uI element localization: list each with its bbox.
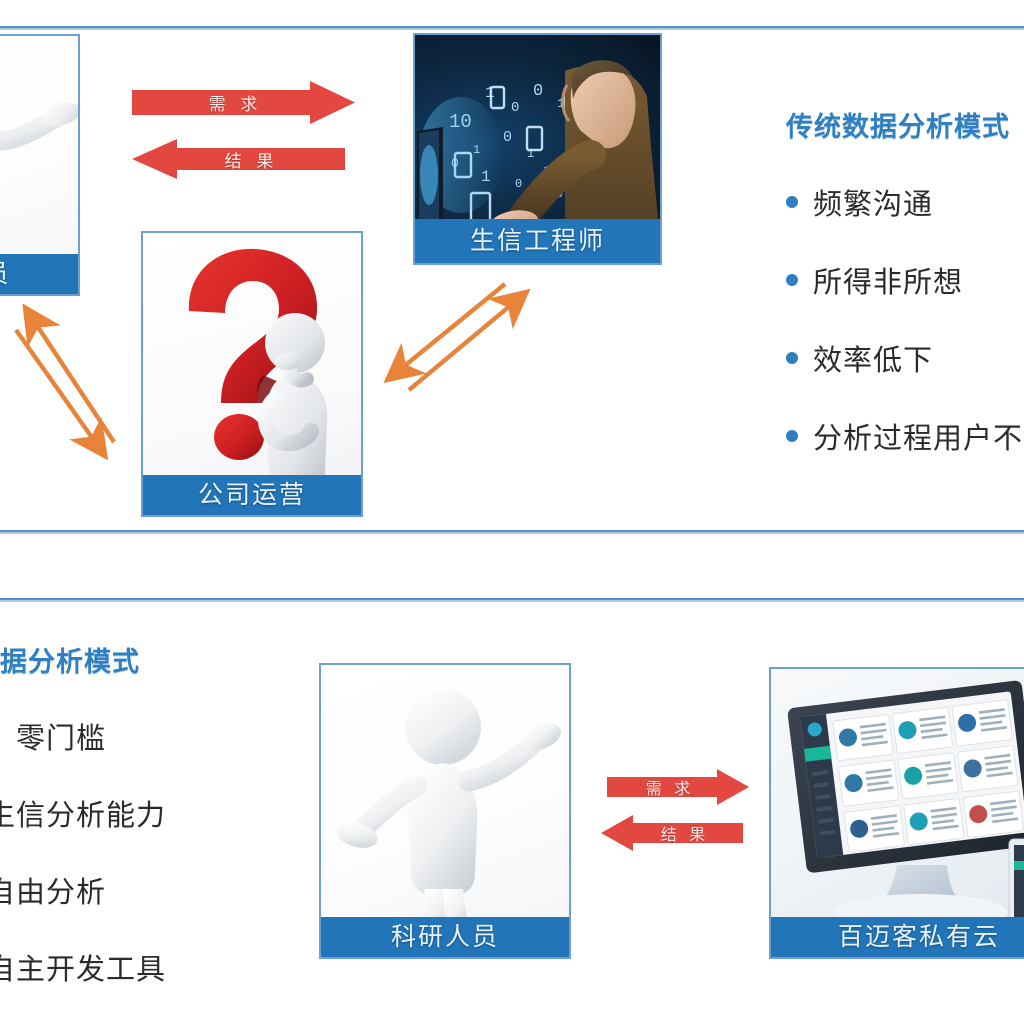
card-caption-top-left: 员 (0, 254, 78, 294)
bullet-text: 效率低下 (813, 337, 933, 379)
bullet-dot-icon (786, 274, 798, 286)
panel-traditional-mode: 传统数据分析模式 频繁沟通 所得非所想 效率低下 分析过程用户不可 (786, 105, 1024, 457)
bullet-text: 以部署自主开发工具 (0, 946, 166, 988)
bullet-dot-icon (786, 196, 798, 208)
arrow-result-top: 结 果 (132, 139, 345, 179)
card-caption-private-cloud: 百迈客私有云 (771, 917, 1024, 957)
divider-middle-lower (0, 598, 1024, 602)
question-mark-thinking-figure (143, 233, 361, 515)
bullet-list-new: 化操作、零门槛 中获得生信分析能力 所欲、自由分析 以部署自主开发工具 (0, 715, 316, 988)
svg-text:0: 0 (533, 82, 543, 101)
arrow-result-bottom: 结 果 (601, 815, 743, 851)
bullet-item: 所欲、自由分析 (0, 869, 316, 911)
arrow-orange-left-pair (0, 296, 126, 452)
svg-text:0: 0 (503, 129, 512, 146)
bullet-text: 化操作、零门槛 (0, 715, 106, 757)
card-caption-engineer: 生信工程师 (415, 219, 660, 263)
bullet-item: 中获得生信分析能力 (0, 792, 316, 834)
card-caption-company-operations: 公司运营 (143, 475, 361, 515)
panel-title-traditional: 传统数据分析模式 (786, 105, 1024, 144)
card-company-operations: 公司运营 (141, 231, 363, 517)
card-top-left-researcher: 员 (0, 34, 80, 296)
bullet-dot-icon (786, 352, 798, 364)
bullet-text: 分析过程用户不可 (813, 415, 1024, 457)
bullet-list-traditional: 频繁沟通 所得非所想 效率低下 分析过程用户不可 (786, 181, 1024, 457)
bullet-item: 化操作、零门槛 (0, 715, 316, 757)
bullet-text: 所欲、自由分析 (0, 869, 106, 911)
arrow-demand-top: 需 求 (132, 81, 355, 124)
bullet-text: 频繁沟通 (813, 181, 933, 223)
card-bioinformatics-engineer: 1 10 0 0 1 1 0 1 0 1 0 1 0 1 0 0 1 (413, 33, 662, 265)
card-private-cloud: 百迈客私有云 (769, 667, 1024, 959)
bullet-text: 中获得生信分析能力 (0, 792, 166, 834)
researcher-3d-figure-arms-open (321, 665, 569, 957)
divider-top (0, 26, 1024, 30)
bullet-item: 频繁沟通 (786, 181, 1024, 223)
card-researcher: 科研人员 (319, 663, 571, 959)
bullet-item: 以部署自主开发工具 (0, 946, 316, 988)
bullet-dot-icon (786, 430, 798, 442)
bullet-text: 所得非所想 (813, 259, 963, 301)
divider-middle-upper (0, 530, 1024, 534)
svg-text:0: 0 (515, 177, 522, 191)
bullet-item: 效率低下 (786, 337, 1024, 379)
arrow-orange-right-pair (381, 280, 533, 392)
desktop-monitor-dashboard-mockup (771, 669, 1024, 957)
bullet-item: 所得非所想 (786, 259, 1024, 301)
arrow-demand-bottom: 需 求 (607, 769, 749, 805)
card-caption-researcher: 科研人员 (321, 917, 569, 957)
panel-title-new: 据分析模式 (0, 640, 316, 679)
svg-text:0: 0 (511, 100, 519, 116)
bullet-item: 分析过程用户不可 (786, 415, 1024, 457)
panel-new-mode: 据分析模式 化操作、零门槛 中获得生信分析能力 所欲、自由分析 以部署自主开发工… (0, 640, 316, 988)
slide-canvas: 员 (0, 0, 1024, 1024)
